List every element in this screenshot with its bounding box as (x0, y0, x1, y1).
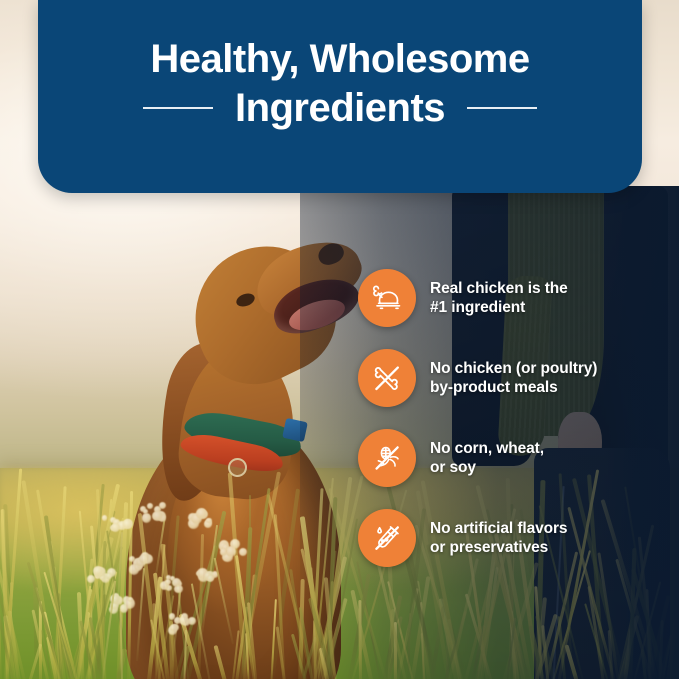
feature-item: No chicken (or poultry) by-product meals (358, 338, 670, 418)
header-banner: Healthy, Wholesome Ingredients (38, 0, 642, 193)
no-corn-wheat-icon (358, 429, 416, 487)
feature-label: No chicken (or poultry) by-product meals (430, 359, 597, 398)
page-title-line1: Healthy, Wholesome (150, 36, 529, 83)
roast-chicken-icon (358, 269, 416, 327)
no-test-tube-icon (358, 509, 416, 567)
product-feature-banner: Healthy, Wholesome Ingredients Real chic… (0, 0, 679, 679)
no-bone-icon (358, 349, 416, 407)
title-rule-left (143, 107, 213, 109)
feature-item: No corn, wheat, or soy (358, 418, 670, 498)
feature-label: No artificial flavors or preservatives (430, 519, 567, 558)
feature-list: Real chicken is the #1 ingredient No chi… (358, 258, 670, 578)
feature-label: No corn, wheat, or soy (430, 439, 544, 478)
title-rule-right (467, 107, 537, 109)
feature-item: Real chicken is the #1 ingredient (358, 258, 670, 338)
page-title-row2: Ingredients (38, 86, 642, 131)
feature-label: Real chicken is the #1 ingredient (430, 279, 568, 318)
page-title-line2: Ingredients (235, 86, 445, 131)
feature-item: No artificial flavors or preservatives (358, 498, 670, 578)
